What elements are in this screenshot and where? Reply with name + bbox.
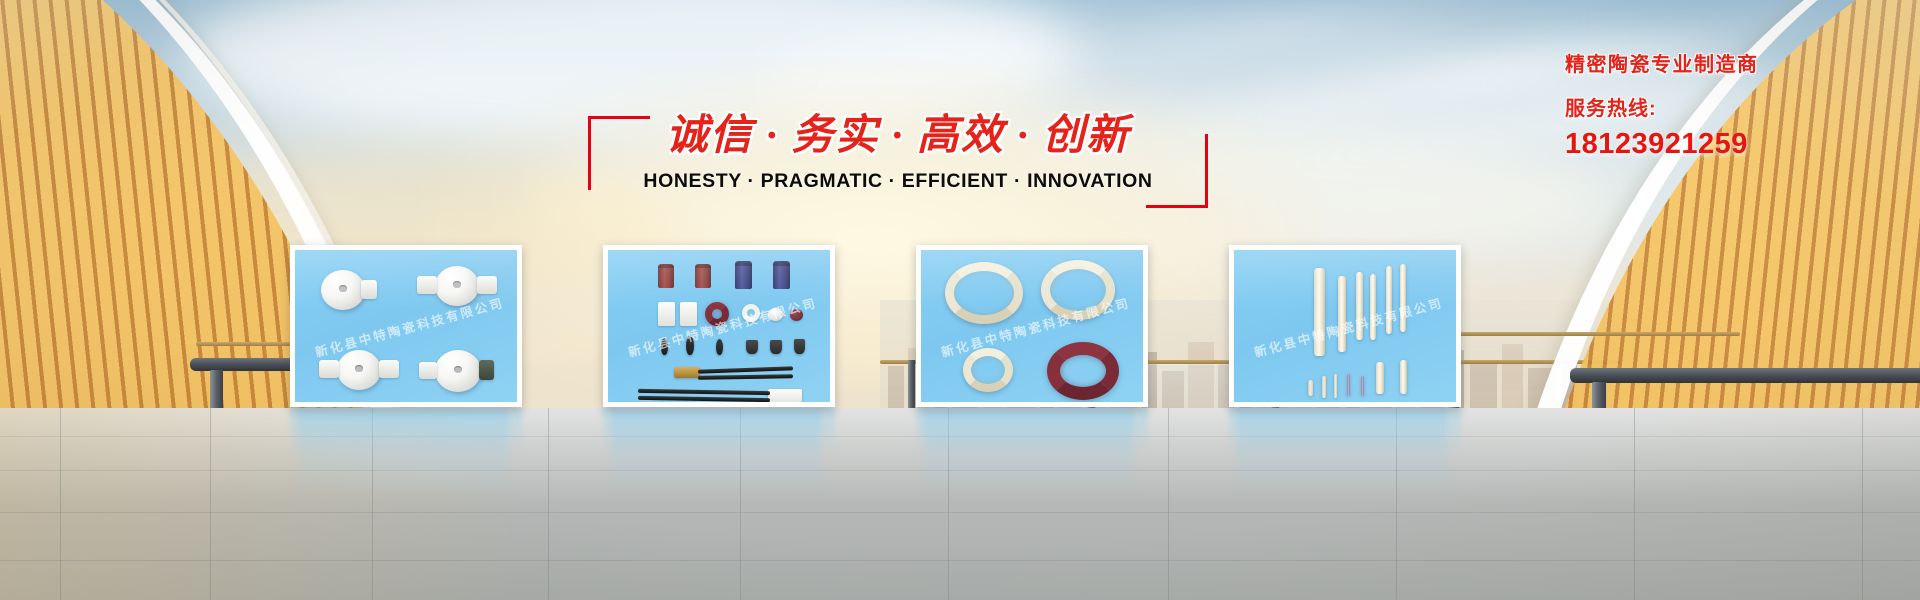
panel-4-inner: 新化县中特陶瓷科技有限公司: [1234, 250, 1456, 402]
hotline-phone-number[interactable]: 18123921259: [1565, 126, 1895, 162]
ceramic-rod: [1400, 264, 1406, 332]
ceramic-lamp-holder: [337, 350, 381, 390]
ceramic-tube-red: [695, 264, 711, 288]
ceramic-rod-thin: [1334, 374, 1337, 398]
ceramic-tube-blue: [735, 261, 752, 289]
ceramic-rod: [1370, 274, 1376, 340]
ceramic-rod-thin: [1308, 380, 1313, 396]
product-panel-ceramic-rings[interactable]: 新化县中特陶瓷科技有限公司: [916, 245, 1148, 407]
product-panel-lamp-holders[interactable]: 新化县中特陶瓷科技有限公司: [290, 245, 522, 407]
holder-tab: [319, 360, 339, 378]
brass-connector: [674, 367, 700, 378]
ceramic-lamp-holder: [435, 350, 481, 392]
metal-clip: [746, 340, 758, 354]
metal-clip: [770, 340, 782, 354]
ceramic-ring-large: [945, 262, 1023, 324]
black-wire: [698, 374, 793, 380]
ceramic-nub-dark: [790, 309, 803, 321]
ceramic-rod-violet: [1361, 376, 1364, 396]
ceramic-tube-red: [658, 264, 674, 288]
metal-contact: [661, 338, 668, 355]
product-gallery: 新化县中特陶瓷科技有限公司: [290, 245, 1540, 410]
ceramic-lamp-holder: [321, 270, 365, 310]
white-connector: [768, 389, 802, 402]
ceramic-nub: [768, 308, 783, 321]
contact-block: 精密陶瓷专业制造商 服务热线: 18123921259: [1565, 50, 1895, 162]
holder-tab: [417, 276, 437, 294]
panel-1-inner: 新化县中特陶瓷科技有限公司: [295, 250, 517, 402]
holder-tab: [379, 360, 399, 378]
hero-banner: 诚信 · 务实 · 高效 · 创新 HONESTY · PRAGMATIC · …: [0, 0, 1920, 600]
ceramic-rod-short: [1400, 360, 1407, 394]
ceramic-ring-maroon: [705, 302, 729, 326]
ceramic-rod-violet: [1347, 374, 1350, 396]
ceramic-plate: [680, 302, 697, 326]
ceramic-ring-small: [963, 348, 1013, 392]
ceramic-lamp-holder: [435, 266, 479, 306]
metal-contact: [716, 339, 723, 355]
product-panel-ceramic-rods[interactable]: 新化县中特陶瓷科技有限公司: [1229, 245, 1461, 407]
slogan-english: HONESTY · PRAGMATIC · EFFICIENT · INNOVA…: [588, 170, 1208, 193]
ceramic-rod-thin: [1322, 376, 1326, 398]
ceramic-ring-white: [742, 304, 760, 322]
ceramic-ring-large: [1041, 260, 1115, 320]
holder-tab: [419, 362, 437, 379]
holder-tab: [361, 280, 377, 299]
panel-3-inner: 新化县中特陶瓷科技有限公司: [921, 250, 1143, 402]
hotline-label: 服务热线:: [1565, 95, 1895, 123]
ceramic-rod: [1386, 266, 1392, 334]
panel-2-inner: 新化县中特陶瓷科技有限公司: [608, 250, 830, 402]
product-panel-tubes-connectors[interactable]: 新化县中特陶瓷科技有限公司: [603, 245, 835, 407]
metal-contact: [686, 336, 694, 355]
black-wire: [698, 366, 793, 373]
ceramic-rod-short: [1376, 362, 1384, 394]
slogan-chinese: 诚信 · 务实 · 高效 · 创新: [588, 108, 1208, 164]
ceramic-plate: [658, 302, 675, 326]
right-handrail: [1570, 368, 1920, 383]
holder-tab: [479, 360, 494, 380]
ceramic-tube-blue: [773, 261, 790, 289]
company-tagline: 精密陶瓷专业制造商: [1565, 50, 1895, 80]
ceramic-rod: [1356, 272, 1363, 340]
holder-tab: [477, 276, 497, 294]
metal-clip: [794, 339, 805, 354]
black-wire: [638, 396, 770, 402]
black-wire: [638, 389, 770, 395]
ceramic-rod: [1314, 268, 1325, 356]
ceramic-ring-maroon-flat: [1047, 342, 1119, 400]
ceramic-rod: [1338, 276, 1346, 352]
slogan-block: 诚信 · 务实 · 高效 · 创新 HONESTY · PRAGMATIC · …: [588, 108, 1208, 216]
